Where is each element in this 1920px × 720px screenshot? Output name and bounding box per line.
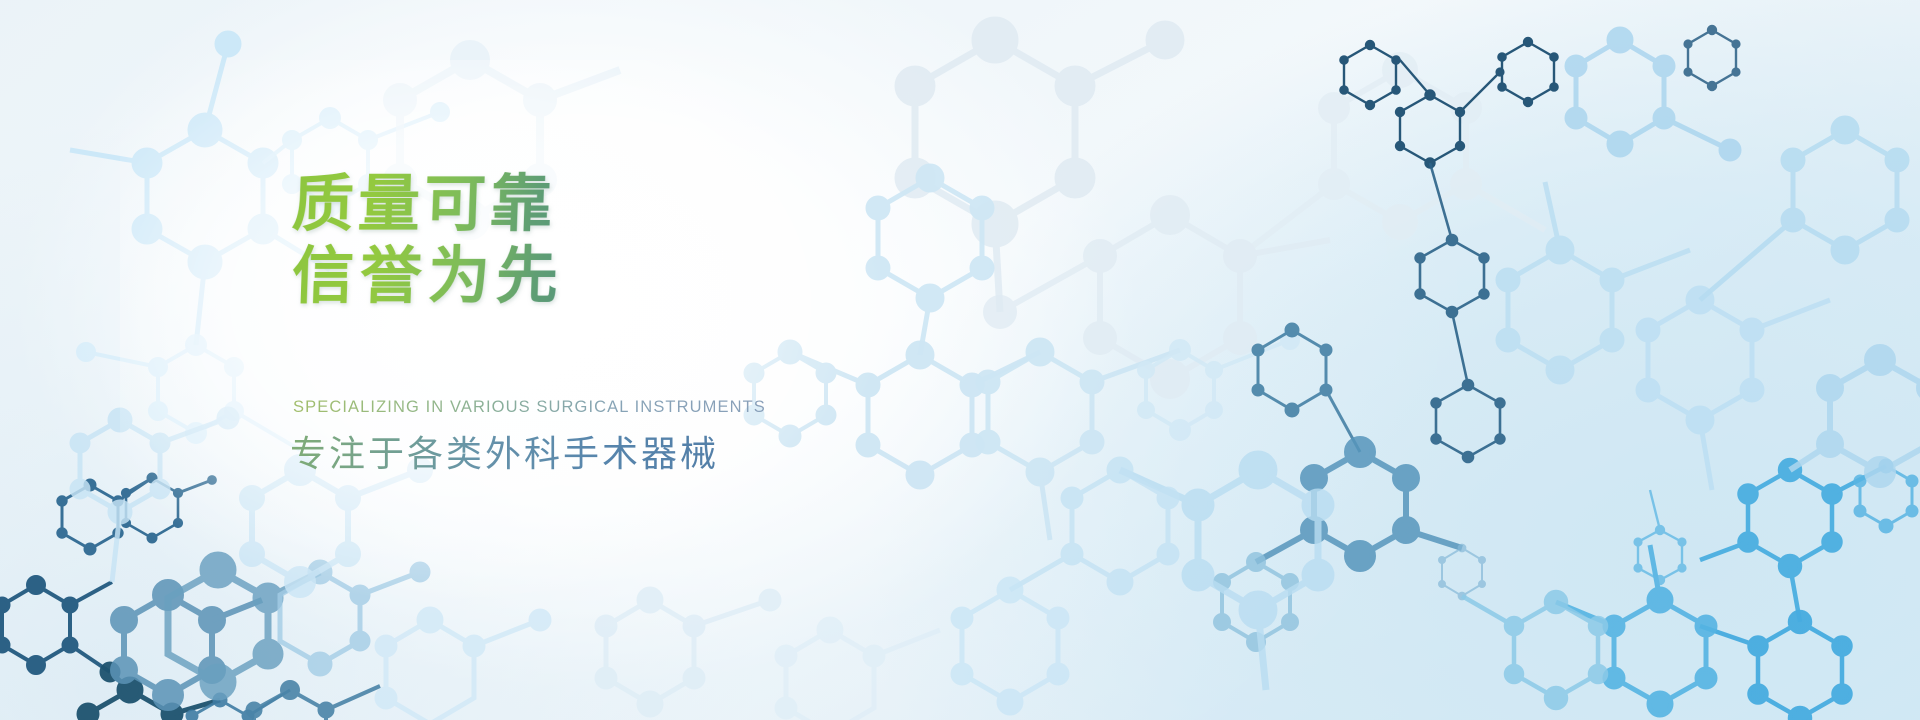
subtitle-english: SPECIALIZING IN VARIOUS SURGICAL INSTRUM… (293, 398, 766, 417)
headline-line-1: 质量可靠 (291, 168, 566, 240)
subtitle-chinese: 专注于各类外科手术器械 (290, 425, 719, 477)
headline-line-2: 信誉为先 (291, 240, 566, 312)
headline-block: 质量可靠 信誉为先 (292, 168, 564, 312)
banner-content: 质量可靠 信誉为先 SPECIALIZING IN VARIOUS SURGIC… (0, 0, 1920, 720)
hero-banner: 质量可靠 信誉为先 SPECIALIZING IN VARIOUS SURGIC… (0, 0, 1920, 720)
